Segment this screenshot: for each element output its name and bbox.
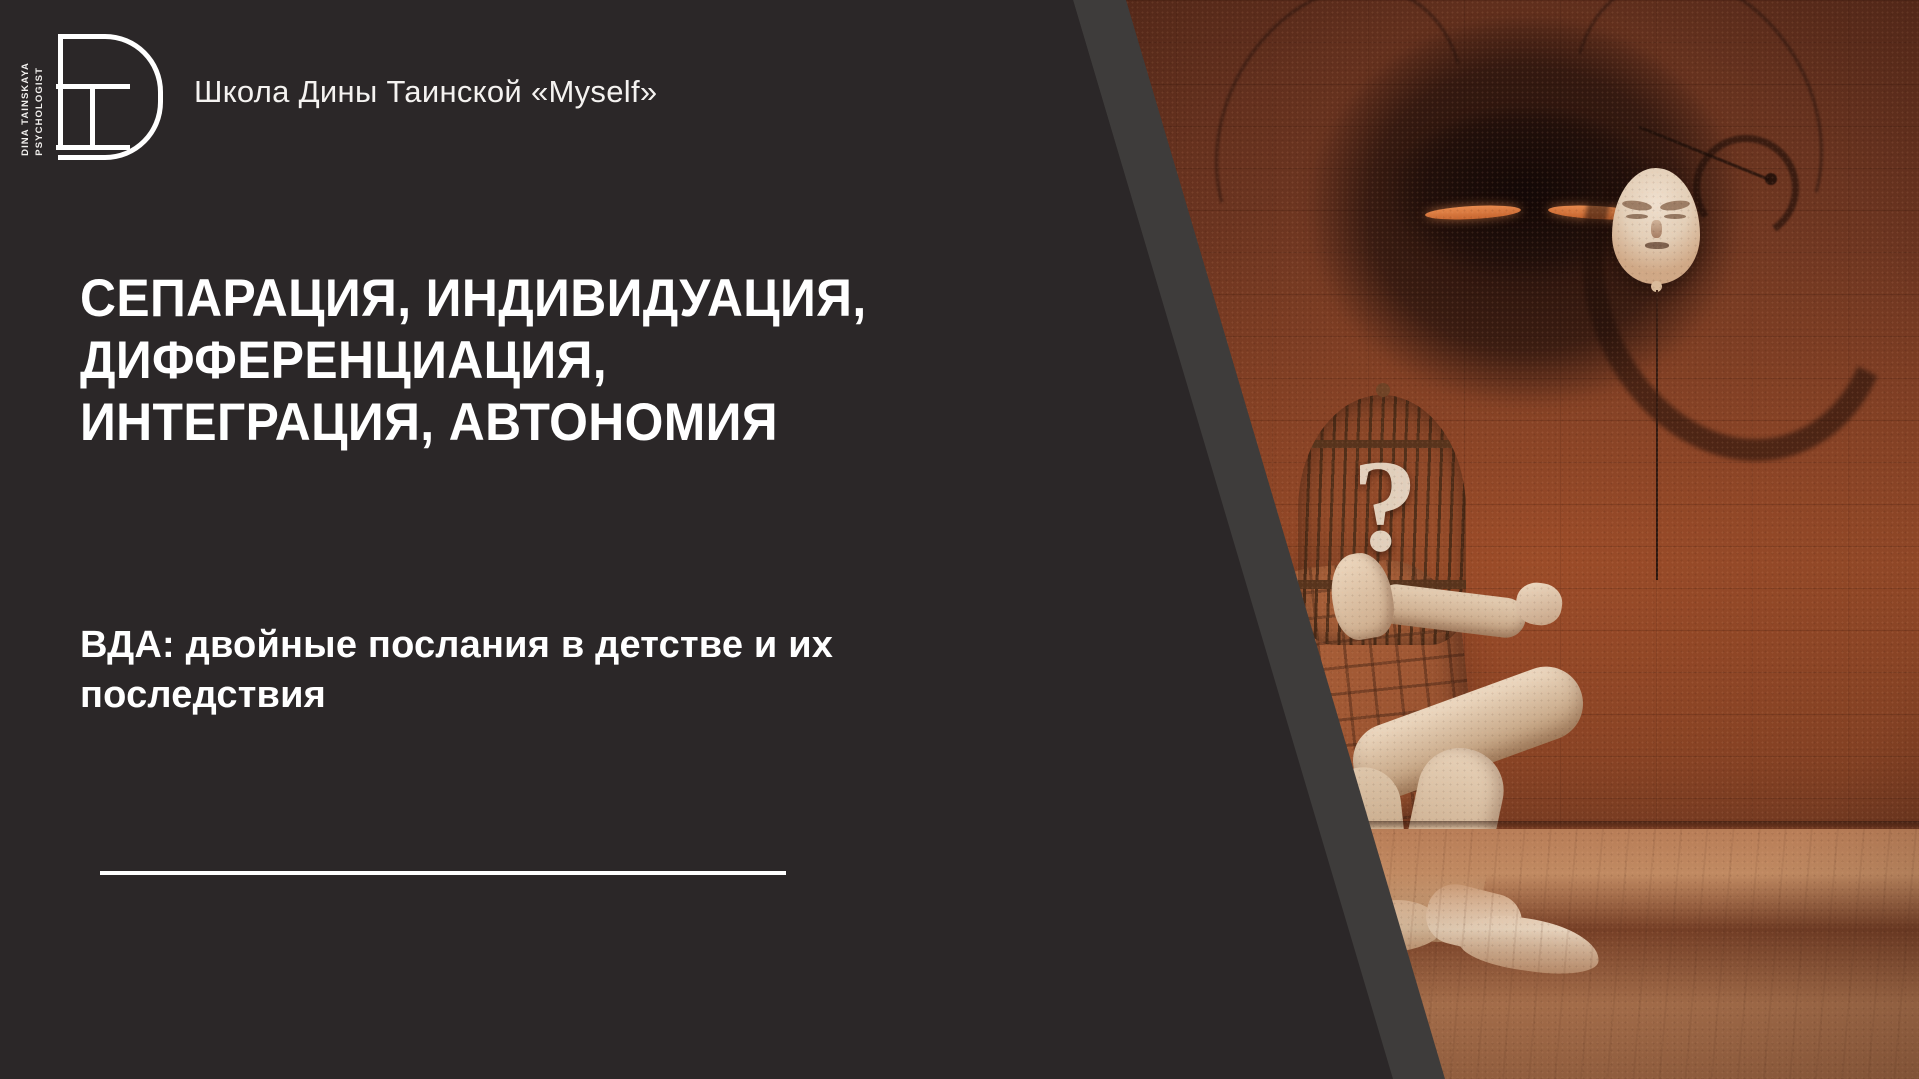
brand-name: Школа Дины Таинской «Myself»	[194, 74, 657, 110]
page-title: СЕПАРАЦИЯ, ИНДИВИДУАЦИЯ, ДИФФЕРЕНЦИАЦИЯ,…	[80, 268, 926, 454]
page-title-line-1: СЕПАРАЦИЯ, ИНДИВИДУАЦИЯ,	[80, 268, 926, 330]
logo-letter-t-foot	[56, 145, 130, 150]
page-subtitle-line-2: последствия	[80, 670, 1040, 721]
logo-vertical-text-role: PSYCHOLOGIST	[34, 67, 45, 156]
page-title-line-3: ИНТЕГРАЦИЯ, АВТОНОМИЯ	[80, 392, 926, 454]
logo-vertical-text-name: DINA TAINSKAYA	[20, 62, 31, 156]
page-title-line-2: ДИФФЕРЕНЦИАЦИЯ,	[80, 330, 926, 392]
logo-letter-d-stem	[58, 34, 63, 150]
logo-monogram-dt-icon	[58, 34, 164, 150]
page-subtitle-line-1: ВДА: двойные послания в детстве и их	[80, 620, 1040, 671]
accent-rule	[100, 871, 786, 875]
logo-letter-t-stem	[90, 84, 95, 150]
logo: DINA TAINSKAYA PSYCHOLOGIST	[18, 28, 168, 156]
logo-vertical-text: DINA TAINSKAYA PSYCHOLOGIST	[20, 28, 45, 156]
logo-letter-d	[58, 34, 163, 160]
slide-root: ? DINA TAINSKAYA PSYCHOLOGIST	[0, 0, 1919, 1079]
brand-header: DINA TAINSKAYA PSYCHOLOGIST Школа Дины Т…	[18, 28, 657, 156]
page-subtitle: ВДА: двойные послания в детстве и их пос…	[80, 620, 1040, 722]
